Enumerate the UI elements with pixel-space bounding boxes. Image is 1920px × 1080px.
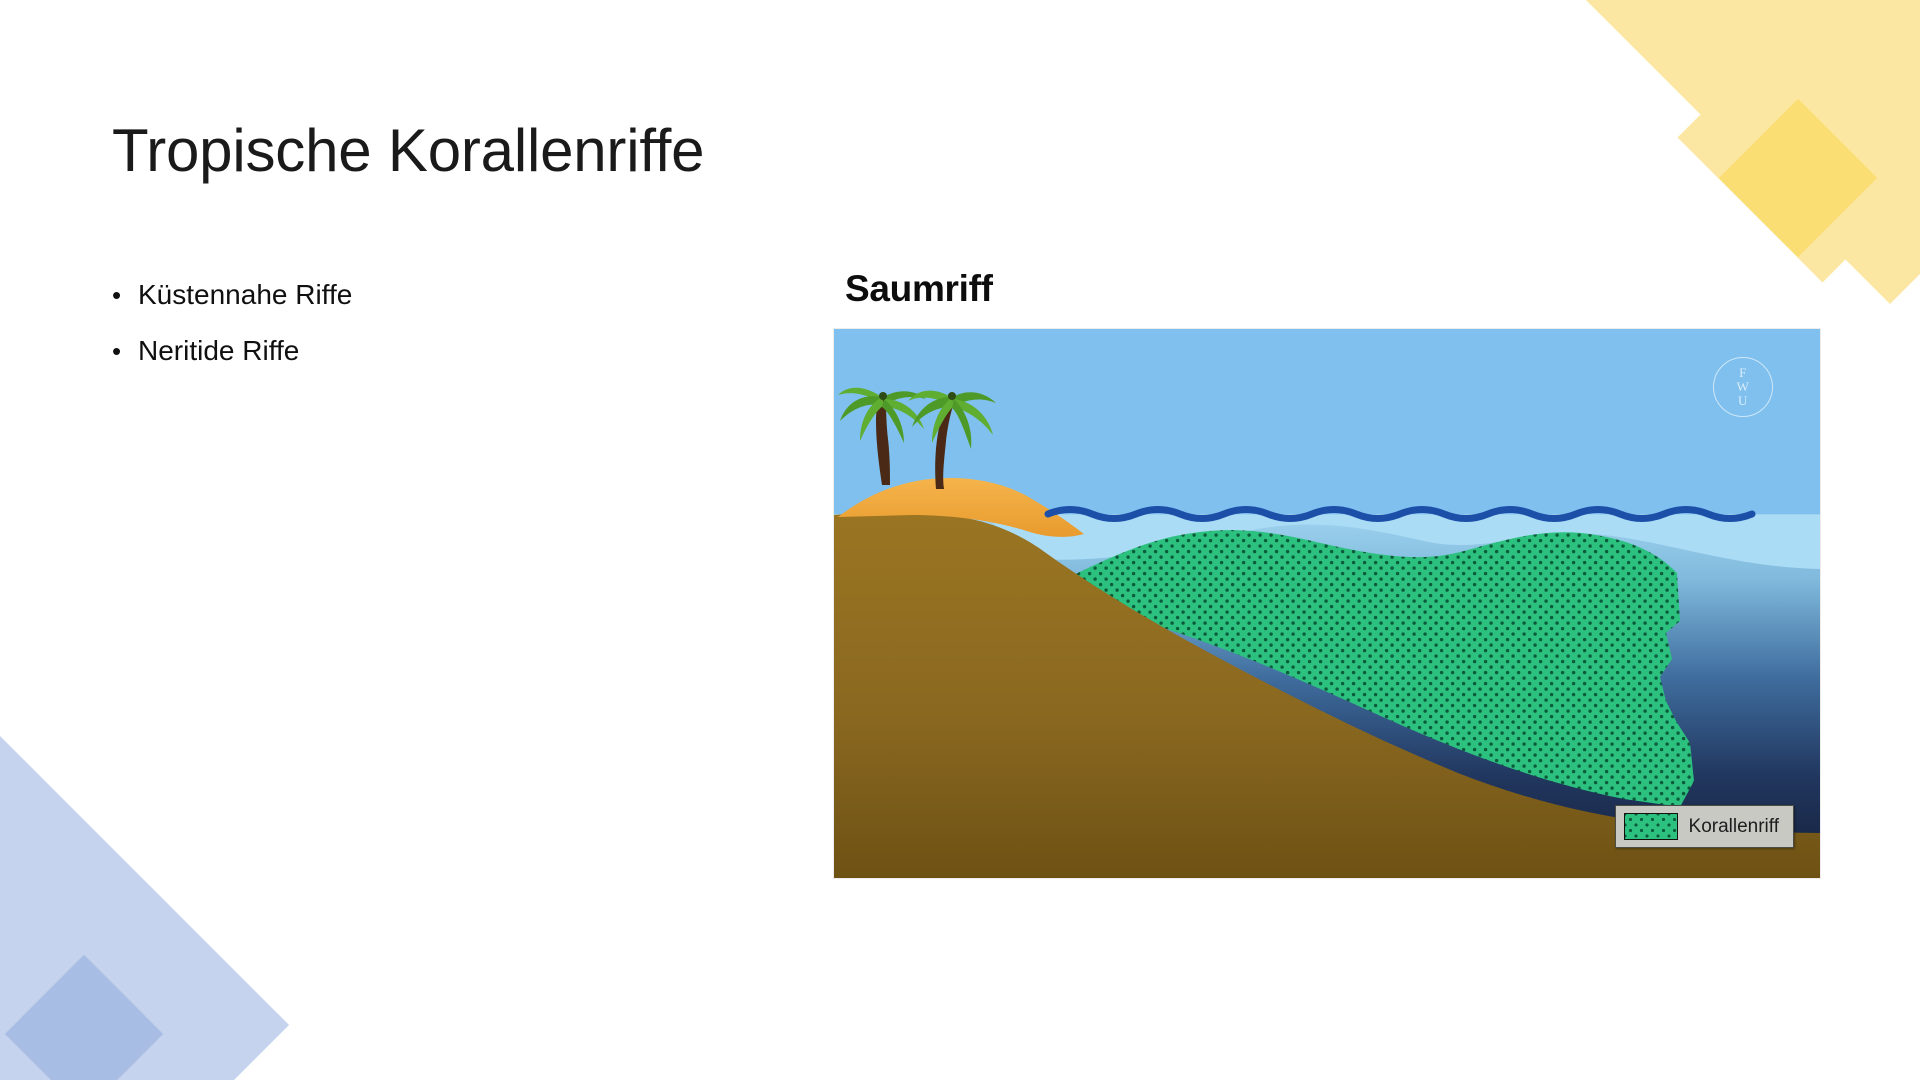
watermark-line-3: U xyxy=(1738,394,1748,408)
bullet-list: • Küstennahe Riffe • Neritide Riffe xyxy=(112,277,672,389)
fringing-reef-diagram xyxy=(834,329,1820,878)
figure-image: F W U Korallenriff xyxy=(834,329,1820,878)
deco-diamond-blue-large xyxy=(0,721,289,1080)
bullet-marker-icon: • xyxy=(112,282,138,308)
deco-diamond-blue-small xyxy=(5,955,163,1080)
bullet-text: Küstennahe Riffe xyxy=(138,277,352,312)
bullet-marker-icon: • xyxy=(112,338,138,364)
watermark-line-1: F xyxy=(1739,366,1747,380)
deco-diamond-yellow-medium xyxy=(1678,0,1920,282)
deco-diamond-yellow-large xyxy=(1586,0,1920,304)
figure-caption: Saumriff xyxy=(845,268,1820,310)
legend: Korallenriff xyxy=(1615,805,1794,848)
deco-diamond-yellow-small xyxy=(1719,99,1877,257)
deco-diamond-blue-medium xyxy=(0,884,201,1080)
list-item: • Küstennahe Riffe xyxy=(112,277,672,312)
legend-swatch-coral-reef xyxy=(1624,813,1678,840)
legend-label: Korallenriff xyxy=(1689,816,1779,838)
list-item: • Neritide Riffe xyxy=(112,333,672,368)
fwu-watermark-icon: F W U xyxy=(1713,357,1773,417)
page-title: Tropische Korallenriffe xyxy=(112,118,704,184)
watermark-line-2: W xyxy=(1737,380,1750,394)
figure-block: Saumriff xyxy=(834,268,1820,878)
bullet-text: Neritide Riffe xyxy=(138,333,299,368)
